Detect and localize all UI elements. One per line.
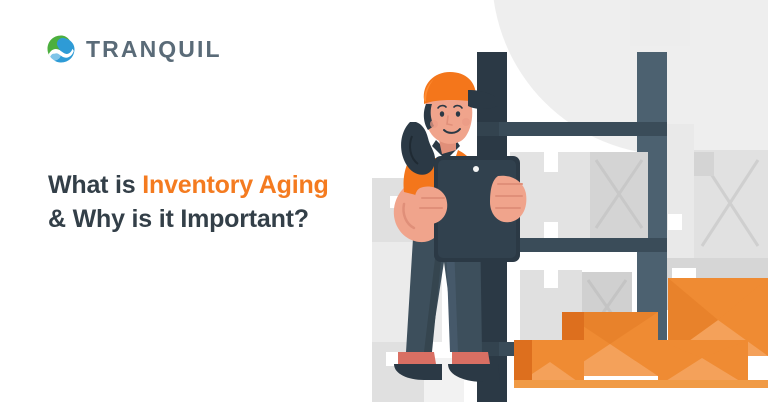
warehouse-worker-inventory-illustration — [372, 0, 768, 402]
headline-line-2: & Why is it Important? — [48, 202, 388, 236]
headline-accent: Inventory Aging — [142, 171, 328, 199]
gray-boxes-shelf-upper — [510, 152, 648, 238]
headline-prefix: What is — [48, 171, 142, 199]
brand-name: TRANQUIL — [86, 38, 222, 61]
tranquil-circular-wave-logo-icon — [46, 34, 76, 64]
page-title: What is Inventory Aging & Why is it Impo… — [48, 168, 388, 236]
headline-line-1: What is Inventory Aging — [48, 168, 388, 202]
hero-banner: TRANQUIL What is Inventory Aging & Why i… — [0, 0, 768, 402]
brand-logo[interactable]: TRANQUIL — [46, 34, 222, 64]
